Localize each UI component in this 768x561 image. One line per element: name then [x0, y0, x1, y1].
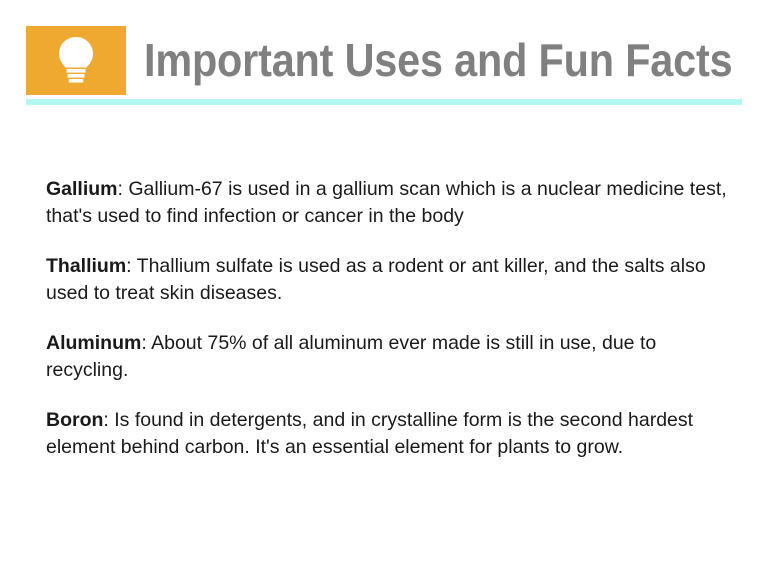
separator: : — [118, 178, 129, 200]
list-item: Aluminum: About 75% of all aluminum ever… — [46, 330, 739, 384]
slide-header: Important Uses and Fun Facts — [26, 26, 742, 105]
list-item: Gallium: Gallium-67 is used in a gallium… — [46, 176, 739, 230]
slide: Important Uses and Fun Facts Gallium: Ga… — [0, 0, 768, 561]
facts-list: Gallium: Gallium-67 is used in a gallium… — [46, 176, 739, 461]
lightbulb-icon-tile — [26, 26, 126, 95]
list-item: Thallium: Thallium sulfate is used as a … — [46, 253, 739, 307]
element-name: Boron — [46, 409, 103, 431]
header-accent-bar — [26, 99, 742, 105]
fact-text: Is found in detergents, and in crystalli… — [46, 409, 693, 458]
fact-text: Thallium sulfate is used as a rodent or … — [46, 255, 706, 304]
element-name: Thallium — [46, 255, 126, 277]
separator: : — [126, 255, 136, 277]
element-name: Gallium — [46, 178, 118, 200]
page-title: Important Uses and Fun Facts — [144, 26, 732, 95]
separator: : — [141, 332, 151, 354]
lightbulb-icon — [56, 36, 96, 86]
separator: : — [103, 409, 114, 431]
fact-text: Gallium-67 is used in a gallium scan whi… — [46, 178, 727, 227]
list-item: Boron: Is found in detergents, and in cr… — [46, 407, 739, 461]
element-name: Aluminum — [46, 332, 141, 354]
